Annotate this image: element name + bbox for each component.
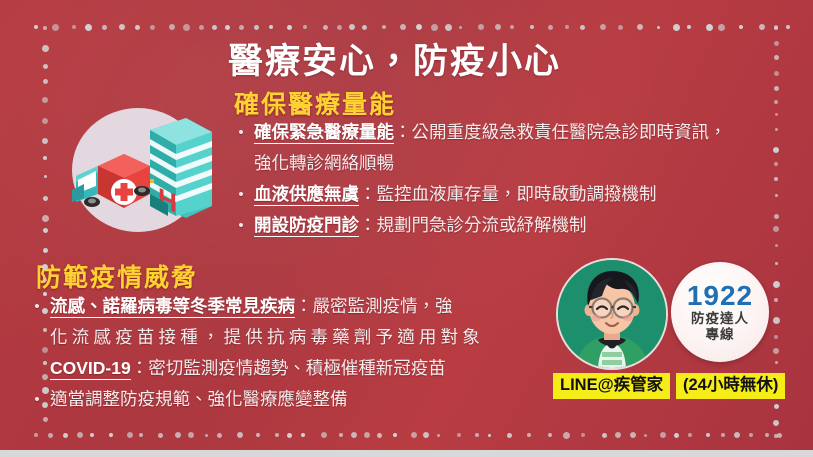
list-item-text: 血液供應無虞：監控血液庫存量，即時啟動調撥機制 — [254, 180, 794, 209]
list-item-body: 嚴密監測疫情，強 — [313, 296, 453, 316]
dotted-border-bottom — [0, 430, 813, 440]
list-item-text: 強化轉診網絡順暢 — [254, 149, 794, 178]
list-item-body: 監控血液庫存量，即時啟動調撥機制 — [377, 184, 657, 204]
list-item-body: 強化轉診網絡順暢 — [254, 153, 394, 173]
list-item-text: 適當調整防疫規範、強化醫療應變整備 — [50, 385, 560, 414]
bullet-marker: • — [30, 385, 44, 414]
line-account-label: LINE@疾管家 — [553, 373, 670, 399]
list-item-text: 確保緊急醫療量能：公開重度級急救責任醫院急診即時資訊， — [254, 118, 794, 147]
list-item: • 血液供應無虞：監控血液庫存量，即時啟動調撥機制 — [234, 180, 794, 209]
list-item-text: 化流感疫苗接種，提供抗病毒藥劑予適用對象 — [50, 323, 560, 352]
list-item-lead: COVID-19 — [50, 358, 131, 380]
list-item: COVID-19：密切監測疫情趨勢、積極催種新冠疫苗 — [30, 354, 560, 383]
list-item: 強化轉診網絡順暢 — [234, 149, 794, 178]
section1-bullet-list: • 確保緊急醫療量能：公開重度級急救責任醫院急診即時資訊， 強化轉診網絡順暢 •… — [234, 118, 794, 242]
bottom-strip — [0, 450, 813, 457]
service-hours-label: (24小時無休) — [676, 373, 785, 399]
list-item-text: COVID-19：密切監測疫情趨勢、積極催種新冠疫苗 — [50, 354, 560, 383]
hotline-caption-line2: 專線 — [706, 327, 735, 343]
list-item-lead: 開設防疫門診 — [254, 215, 359, 237]
list-item: 化流感疫苗接種，提供抗病毒藥劑予適用對象 — [30, 323, 560, 352]
list-item-body: 密切監測疫情趨勢、積極催種新冠疫苗 — [148, 358, 446, 378]
poster-slide: H 醫療安心，防疫小心 — [0, 0, 813, 457]
list-item-lead: 血液供應無虞 — [254, 184, 359, 206]
list-item: • 確保緊急醫療量能：公開重度級急救責任醫院急診即時資訊， — [234, 118, 794, 147]
hotline-badge-1922: 1922 防疫達人 專線 — [671, 262, 769, 362]
hotline-caption-line1: 防疫達人 — [691, 311, 749, 327]
list-item: • 開設防疫門診：規劃門急診分流或紓解機制 — [234, 211, 794, 240]
list-item-lead: 確保緊急醫療量能 — [254, 122, 394, 144]
section2-heading: 防範疫情威脅 — [36, 258, 198, 294]
list-item: • 適當調整防疫規範、強化醫療應變整備 — [30, 385, 560, 414]
page-title: 醫療安心，防疫小心 — [228, 33, 561, 84]
list-item-text: 流感、諾羅病毒等冬季常見疾病：嚴密監測疫情，強 — [50, 292, 560, 321]
bullet-marker: • — [234, 118, 248, 147]
bullet-marker: • — [30, 292, 44, 321]
list-item-body: 規劃門急診分流或紓解機制 — [377, 215, 587, 235]
list-item-separator: ： — [295, 296, 313, 316]
bullet-marker: • — [234, 211, 248, 240]
ambulance-hospital-illustration: H — [46, 98, 222, 248]
list-item-separator: ： — [394, 122, 412, 142]
section2-bullet-list: • 流感、諾羅病毒等冬季常見疾病：嚴密監測疫情，強 化流感疫苗接種，提供抗病毒藥… — [30, 292, 560, 416]
list-item-separator: ： — [359, 215, 377, 235]
list-item-body: 適當調整防疫規範、強化醫療應變整備 — [50, 389, 348, 409]
list-item-lead: 流感、諾羅病毒等冬季常見疾病 — [50, 296, 295, 318]
bullet-marker: • — [234, 180, 248, 209]
mask-expert-character-avatar — [556, 258, 668, 370]
list-item-body: 公開重度級急救責任醫院急診即時資訊， — [412, 122, 727, 142]
list-item-text: 開設防疫門診：規劃門急診分流或紓解機制 — [254, 211, 794, 240]
hotline-number: 1922 — [687, 281, 753, 311]
list-item-separator: ： — [131, 358, 149, 378]
list-item-body: 化流感疫苗接種，提供抗病毒藥劑予適用對象 — [50, 327, 484, 347]
list-item: • 流感、諾羅病毒等冬季常見疾病：嚴密監測疫情，強 — [30, 292, 560, 321]
section1-heading: 確保醫療量能 — [234, 85, 396, 121]
hospital-building: H — [150, 118, 212, 219]
list-item-separator: ： — [359, 184, 377, 204]
dotted-border-top — [0, 22, 813, 32]
